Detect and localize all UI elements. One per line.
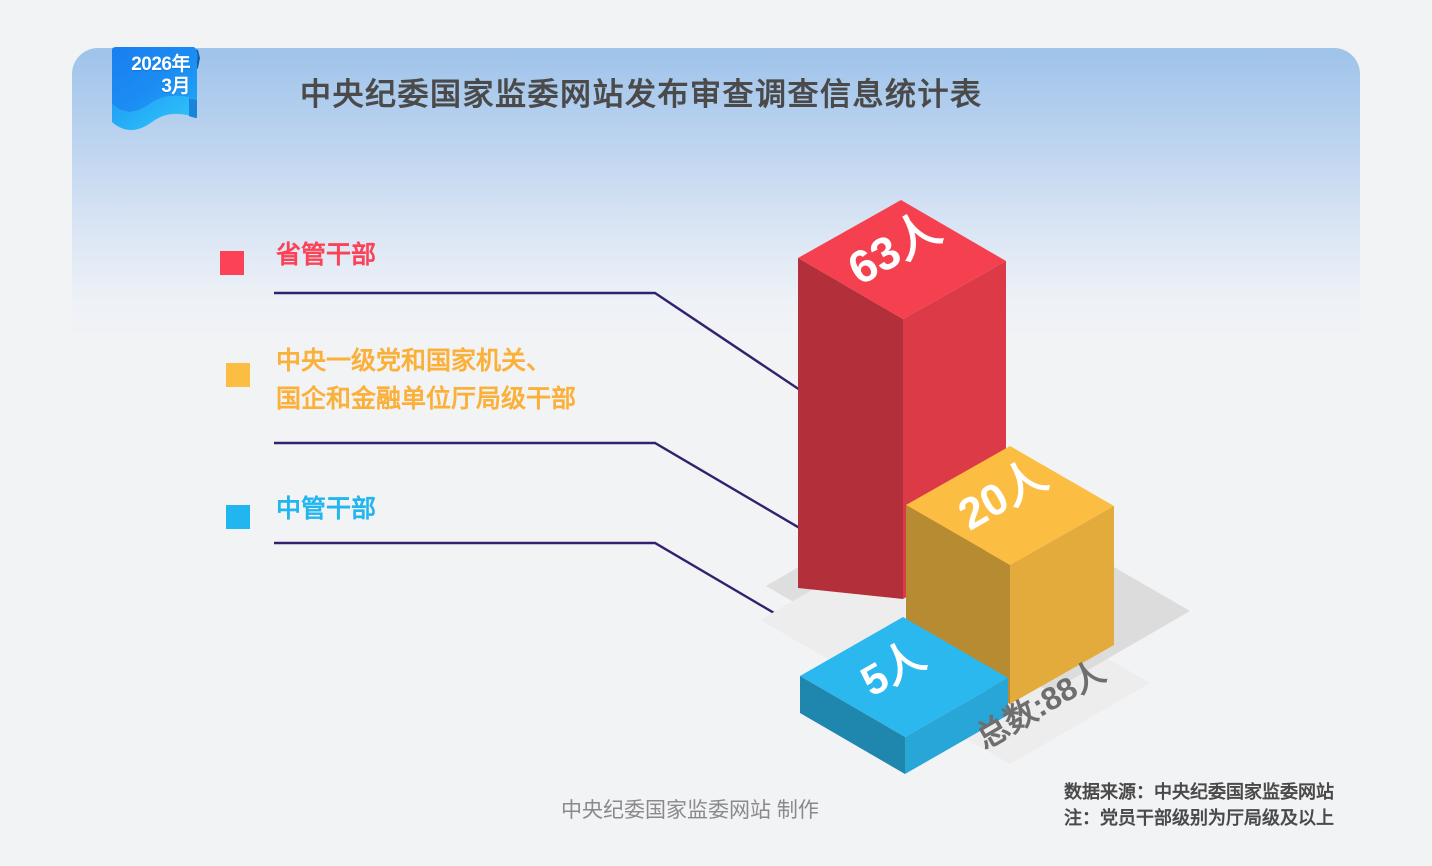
infographic-canvas: 2026年 3月 中央纪委国家监委网站发布审查调查信息统计表 省管干部 中央一级… xyxy=(0,0,1432,866)
source-note-block: 数据来源：中央纪委国家监委网站 注：党员干部级别为厅局级及以上 xyxy=(1064,779,1334,831)
bar-chart-3d: 63人 20人 5人 总数:88人 xyxy=(0,0,1432,866)
made-by-label: 中央纪委国家监委网站 制作 xyxy=(561,794,819,824)
data-note-label: 注：党员干部级别为厅局级及以上 xyxy=(1064,805,1334,831)
data-source-label: 数据来源：中央纪委国家监委网站 xyxy=(1064,779,1334,805)
